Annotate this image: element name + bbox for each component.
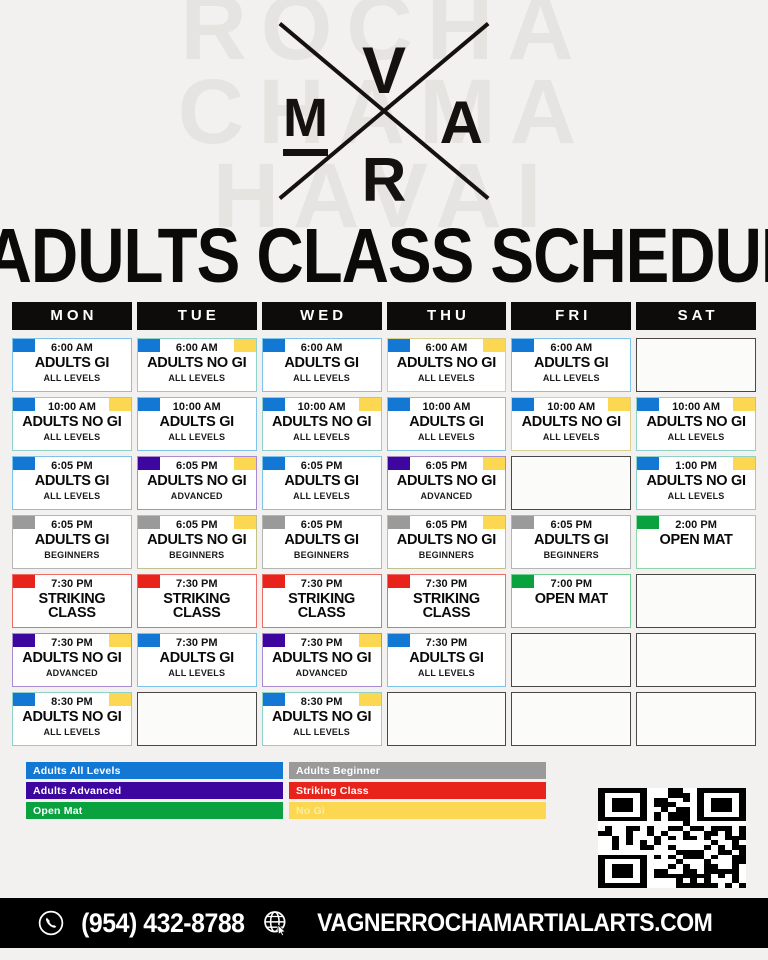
legend: Adults All LevelsAdults BeginnerAdults A… [26,762,546,819]
class-card[interactable]: 7:30 PMADULTS NO GIADVANCED [262,633,382,687]
class-name: ADULTS NO GI [16,710,128,725]
class-name: ADULTS GI [16,356,128,371]
class-card[interactable]: 7:30 PMADULTS NO GIADVANCED [12,633,132,687]
class-level: ALL LEVELS [640,491,752,501]
class-level: ADVANCED [391,491,503,501]
class-card[interactable]: 6:00 AMADULTS GIALL LEVELS [262,338,382,392]
class-card[interactable]: 7:30 PMSTRIKINGCLASS [262,574,382,628]
class-slot-empty [636,633,756,687]
class-slot-empty [636,338,756,392]
class-card[interactable]: 8:30 PMADULTS NO GIALL LEVELS [262,692,382,746]
class-name: ADULTS GI [266,474,378,489]
category-tab-left [388,457,410,470]
day-header-tue: TUE [137,302,257,330]
globe-icon [262,909,290,937]
class-card[interactable]: 6:05 PMADULTS NO GIADVANCED [387,456,507,510]
class-level: ADVANCED [16,668,128,678]
class-slot-empty [137,692,257,746]
class-level: ALL LEVELS [141,668,253,678]
class-name: ADULTS NO GI [266,415,378,430]
class-name: ADULTS GI [266,533,378,548]
category-tab-left [138,339,160,352]
day-header-thu: THU [387,302,507,330]
class-card[interactable]: 10:00 AMADULTS NO GIALL LEVELS [636,397,756,451]
class-card[interactable]: 10:00 AMADULTS NO GIALL LEVELS [12,397,132,451]
legend-item-adults-all-levels: Adults All Levels [26,762,283,779]
legend-item-no-gi: No Gi [289,802,546,819]
category-tab-left [13,575,35,588]
class-slot-empty [636,574,756,628]
class-level: ALL LEVELS [391,432,503,442]
class-level: ALL LEVELS [266,432,378,442]
legend-item-adults-advanced: Adults Advanced [26,782,283,799]
class-card[interactable]: 6:05 PMADULTS GIBEGINNERS [511,515,631,569]
class-name: ADULTS NO GI [141,474,253,489]
category-tab-left [512,339,534,352]
class-name: STRIKINGCLASS [16,592,128,620]
class-name: ADULTS GI [515,533,627,548]
class-name: ADULTS NO GI [16,651,128,666]
class-card[interactable]: 2:00 PMOPEN MAT [636,515,756,569]
category-tab-left [263,457,285,470]
class-card[interactable]: 10:00 AMADULTS NO GIALL LEVELS [511,397,631,451]
legend-item-open-mat: Open Mat [26,802,283,819]
class-name: ADULTS GI [515,356,627,371]
phone-number[interactable]: (954) 432-8788 [81,908,244,939]
class-card[interactable]: 6:05 PMADULTS GIBEGINNERS [262,515,382,569]
class-card[interactable]: 6:05 PMADULTS NO GIBEGINNERS [137,515,257,569]
category-tab-left [388,398,410,411]
category-tab-left [388,339,410,352]
category-tab-nogi [234,457,256,470]
category-tab-nogi [608,398,630,411]
class-card[interactable]: 6:05 PMADULTS GIALL LEVELS [12,456,132,510]
class-name: OPEN MAT [515,592,627,607]
category-tab-nogi [733,398,755,411]
website-url[interactable]: VAGNERROCHAMARTIALARTS.COM [317,909,712,938]
logo-letter-left: M [283,91,328,156]
class-name: STRIKINGCLASS [391,592,503,620]
class-level: ADVANCED [266,668,378,678]
class-name: ADULTS NO GI [16,415,128,430]
contact-bar: (954) 432-8788 VAGNERROCHAMARTIALARTS.CO… [0,898,768,948]
category-tab-left [138,398,160,411]
class-name: ADULTS NO GI [391,356,503,371]
class-level: ALL LEVELS [16,727,128,737]
class-name: ADULTS NO GI [640,415,752,430]
class-card[interactable]: 10:00 AMADULTS NO GIALL LEVELS [262,397,382,451]
category-tab-left [138,575,160,588]
category-tab-left [13,457,35,470]
category-tab-nogi [483,516,505,529]
day-header-fri: FRI [511,302,631,330]
class-card[interactable]: 8:30 PMADULTS NO GIALL LEVELS [12,692,132,746]
class-name: ADULTS GI [16,474,128,489]
class-level: BEGINNERS [391,550,503,560]
class-level: ALL LEVELS [266,373,378,383]
class-level: BEGINNERS [141,550,253,560]
day-header-wed: WED [262,302,382,330]
class-level: BEGINNERS [16,550,128,560]
class-card[interactable]: 10:00 AMADULTS GIALL LEVELS [137,397,257,451]
logo-letter-right: A [440,93,483,153]
day-header-mon: MON [12,302,132,330]
category-tab-nogi [109,634,131,647]
phone-icon [38,910,64,936]
class-slot-empty [511,456,631,510]
category-tab-left [388,634,410,647]
class-card[interactable]: 6:05 PMADULTS GIALL LEVELS [262,456,382,510]
category-tab-left [388,575,410,588]
class-level: ALL LEVELS [515,432,627,442]
category-tab-nogi [483,339,505,352]
category-tab-left [263,575,285,588]
class-level: ALL LEVELS [391,373,503,383]
class-name: ADULTS GI [391,651,503,666]
schedule-grid: 6:00 AMADULTS GIALL LEVELS6:00 AMADULTS … [12,338,756,746]
class-name: OPEN MAT [640,533,752,548]
class-slot-empty [636,692,756,746]
category-tab-nogi [359,398,381,411]
class-level: ALL LEVELS [515,373,627,383]
class-name: ADULTS GI [266,356,378,371]
class-card[interactable]: 7:30 PMSTRIKINGCLASS [12,574,132,628]
category-tab-nogi [483,457,505,470]
class-level: ALL LEVELS [141,432,253,442]
category-tab-left [512,516,534,529]
category-tab-left [13,634,35,647]
class-card[interactable]: 6:00 AMADULTS NO GIALL LEVELS [387,338,507,392]
legend-item-striking-class: Striking Class [289,782,546,799]
class-level: BEGINNERS [266,550,378,560]
class-level: ALL LEVELS [16,491,128,501]
class-level: ALL LEVELS [640,432,752,442]
class-name: ADULTS GI [141,651,253,666]
class-name: ADULTS GI [391,415,503,430]
class-card[interactable]: 6:00 AMADULTS GIALL LEVELS [511,338,631,392]
class-level: ALL LEVELS [266,727,378,737]
category-tab-nogi [359,693,381,706]
class-card[interactable]: 7:30 PMADULTS GIALL LEVELS [387,633,507,687]
page-title: ADULTS CLASS SCHEDULE [0,222,768,293]
category-tab-nogi [109,398,131,411]
class-card[interactable]: 6:05 PMADULTS GIBEGINNERS [12,515,132,569]
category-tab-left [13,516,35,529]
class-card[interactable]: 7:30 PMSTRIKINGCLASS [387,574,507,628]
class-name: ADULTS NO GI [640,474,752,489]
class-level: ALL LEVELS [266,491,378,501]
day-header-sat: SAT [636,302,756,330]
class-name: ADULTS NO GI [515,415,627,430]
category-tab-left [13,398,35,411]
logo-letter-top: V [362,37,406,103]
class-card[interactable]: 1:00 PMADULTS NO GIALL LEVELS [636,456,756,510]
category-tab-left [263,634,285,647]
category-tab-left [512,575,534,588]
day-header-row: MONTUEWEDTHUFRISAT [12,302,756,330]
class-name: STRIKINGCLASS [141,592,253,620]
class-card[interactable]: 7:30 PMSTRIKINGCLASS [137,574,257,628]
class-card[interactable]: 10:00 AMADULTS GIALL LEVELS [387,397,507,451]
class-level: ALL LEVELS [16,373,128,383]
class-level: ALL LEVELS [391,668,503,678]
category-tab-left [263,339,285,352]
class-name: ADULTS NO GI [141,533,253,548]
class-slot-empty [511,633,631,687]
brand-logo: V M A R [0,0,768,222]
class-card[interactable]: 6:05 PMADULTS NO GIBEGINNERS [387,515,507,569]
class-level: ADVANCED [141,491,253,501]
class-card[interactable]: 6:05 PMADULTS NO GIADVANCED [137,456,257,510]
category-tab-nogi [359,634,381,647]
legend-item-adults-beginner: Adults Beginner [289,762,546,779]
class-level: BEGINNERS [515,550,627,560]
class-name: STRIKINGCLASS [266,592,378,620]
class-name: ADULTS NO GI [141,356,253,371]
category-tab-left [637,457,659,470]
category-tab-left [512,398,534,411]
class-name: ADULTS GI [16,533,128,548]
category-tab-nogi [234,339,256,352]
category-tab-left [263,516,285,529]
qr-code[interactable] [598,788,746,888]
class-card[interactable]: 7:30 PMADULTS GIALL LEVELS [137,633,257,687]
class-level: ALL LEVELS [141,373,253,383]
category-tab-left [138,516,160,529]
category-tab-left [637,516,659,529]
category-tab-nogi [234,516,256,529]
class-level: ALL LEVELS [16,432,128,442]
category-tab-left [13,693,35,706]
class-slot-empty [511,692,631,746]
category-tab-left [637,398,659,411]
category-tab-left [138,634,160,647]
schedule-poster: V M A R ADULTS CLASS SCHEDULE MONTUEWEDT… [0,0,768,960]
class-name: ADULTS NO GI [266,710,378,725]
class-slot-empty [387,692,507,746]
category-tab-nogi [109,693,131,706]
class-name: ADULTS NO GI [391,533,503,548]
class-card[interactable]: 7:00 PMOPEN MAT [511,574,631,628]
class-card[interactable]: 6:00 AMADULTS NO GIALL LEVELS [137,338,257,392]
class-card[interactable]: 6:00 AMADULTS GIALL LEVELS [12,338,132,392]
category-tab-left [138,457,160,470]
category-tab-nogi [733,457,755,470]
category-tab-left [388,516,410,529]
category-tab-left [263,398,285,411]
class-name: ADULTS NO GI [391,474,503,489]
category-tab-left [13,339,35,352]
class-name: ADULTS NO GI [266,651,378,666]
category-tab-left [263,693,285,706]
class-name: ADULTS GI [141,415,253,430]
logo-letter-bottom: R [362,150,407,212]
